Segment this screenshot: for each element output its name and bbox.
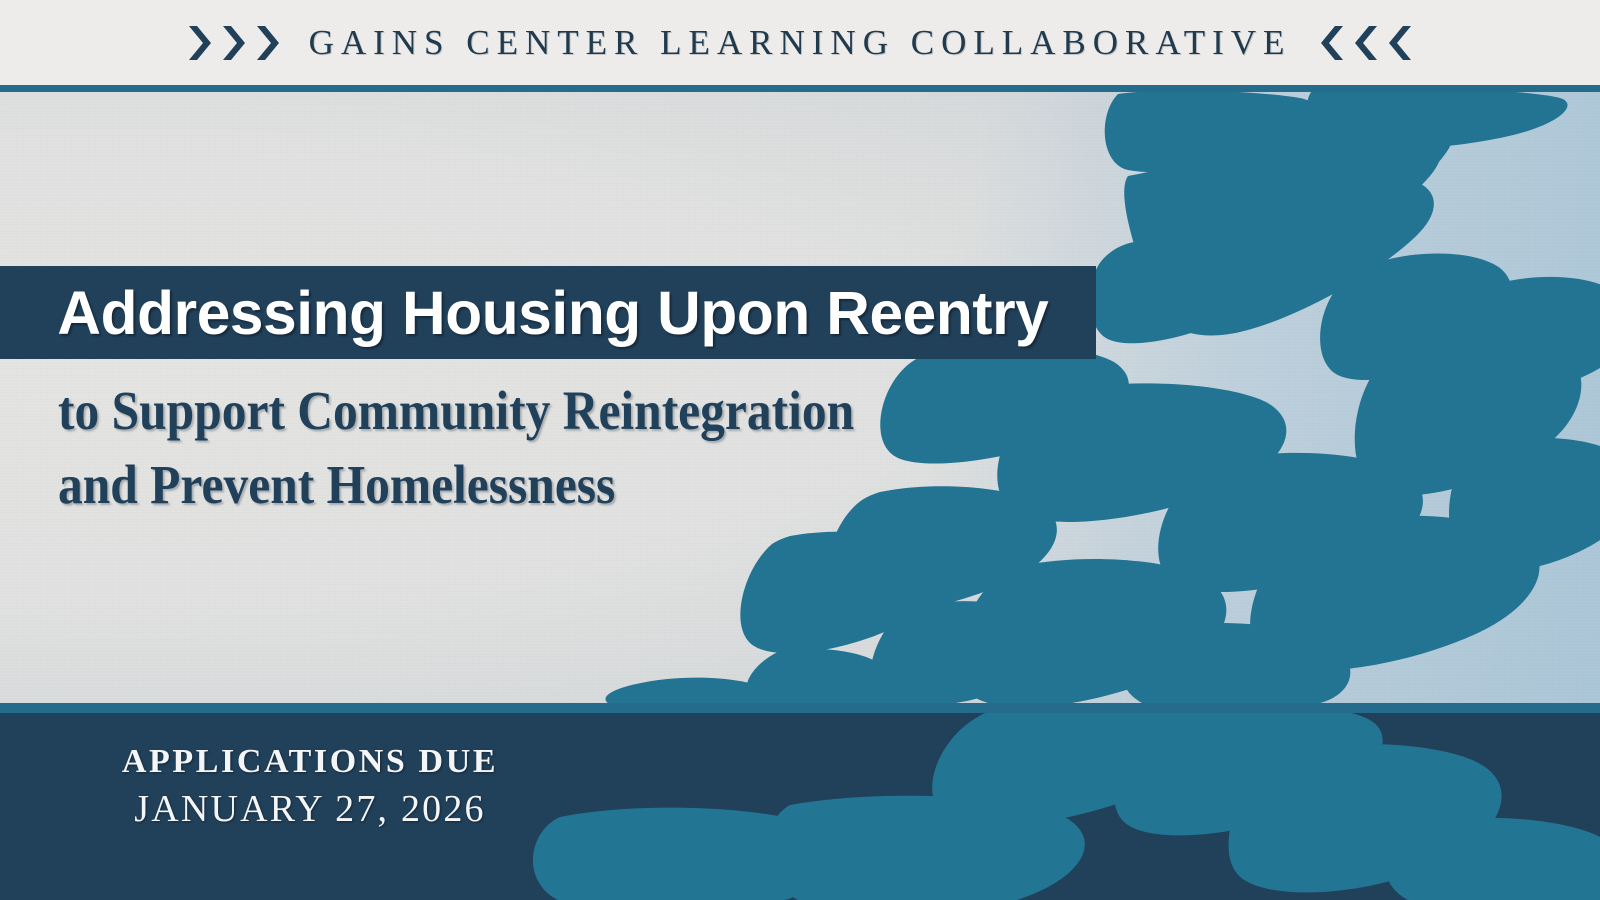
page-subtitle: to Support Community Reintegration and P…: [58, 374, 1012, 521]
footer-bar: APPLICATIONS DUE JANUARY 27, 2026 GAINS …: [0, 713, 1600, 900]
subtitle-line-1: to Support Community Reintegration: [58, 374, 1012, 448]
header-bar: GAINS CENTER LEARNING COLLABORATIVE: [0, 0, 1600, 86]
title-band: Addressing Housing Upon Reentry: [0, 266, 1096, 359]
applications-due-label: APPLICATIONS DUE: [0, 743, 620, 781]
main-stage: Addressing Housing Upon Reentry to Suppo…: [0, 92, 1600, 703]
footer-divider-rule: [0, 703, 1600, 713]
chevron-right-triple-icon: [185, 23, 283, 63]
header-title: GAINS CENTER LEARNING COLLABORATIVE: [309, 23, 1292, 63]
chevron-left-triple-icon: [1317, 23, 1415, 63]
poster-canvas: GAINS CENTER LEARNING COLLABORATIVE: [0, 0, 1600, 900]
page-title: Addressing Housing Upon Reentry: [0, 278, 1048, 348]
subtitle-line-2: and Prevent Homelessness: [58, 448, 1012, 522]
header-divider-rule: [0, 85, 1600, 92]
applications-due-block: APPLICATIONS DUE JANUARY 27, 2026: [0, 743, 620, 831]
applications-due-date: JANUARY 27, 2026: [0, 787, 620, 831]
